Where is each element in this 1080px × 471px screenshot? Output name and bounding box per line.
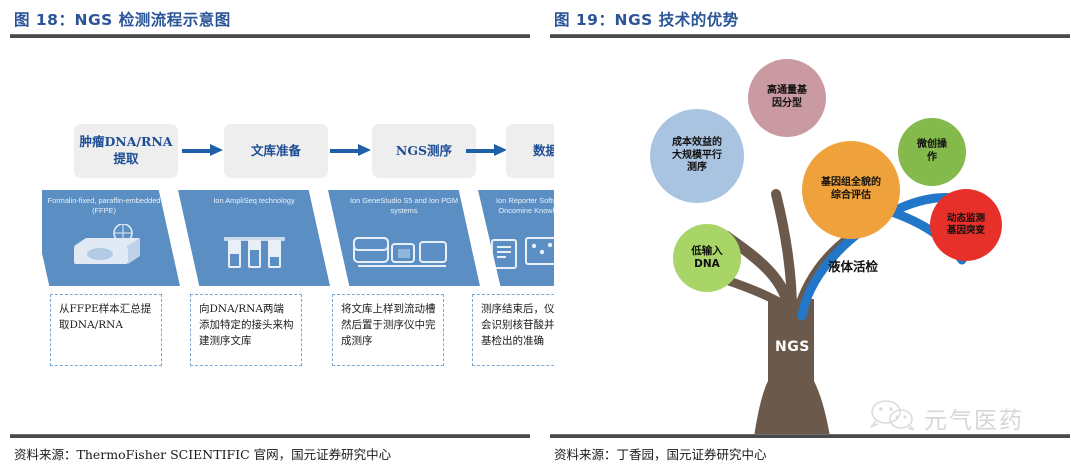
workflow-stage-box-1: 肿瘤DNA/RNA 提取: [74, 124, 178, 178]
workflow-stage-label-3: NGS测序: [396, 143, 452, 160]
tube-rack-icon: [178, 224, 330, 282]
workflow-note-1: 从FFPE样本汇总提取DNA/RNA: [50, 294, 162, 366]
bubble-mutation-monitoring: 动态监测 基因突变: [930, 189, 1002, 261]
bubble-genotyping: 高通量基 因分型: [748, 59, 826, 137]
figure-19-source: 资料来源：丁香园，国元证券研究中心: [554, 444, 767, 463]
workflow-chevron-3: Ion GeneStudio S5 and Ion PGM systems: [328, 190, 480, 286]
bubble-label-genotyping: 高通量基 因分型: [767, 85, 807, 111]
workflow-chevron-2: Ion AmpliSeq technology: [178, 190, 330, 286]
bubble-parallel-sequencing: 成本效益的 大规模平行 测序: [650, 109, 744, 203]
workflow-chevron-band: Formalin-fixed, paraffin-embedded (FFPE): [42, 190, 554, 286]
figure-18-panel: 图 18：NGS 检测流程示意图 肿瘤DNA/RNA 提取 文库准备 NGS测序…: [0, 0, 540, 471]
workflow-note-2: 向DNA/RNA两端添加特定的接头来构建测序文库: [190, 294, 302, 366]
figure-18-source: 资料来源：ThermoFisher SCIENTIFIC 官网，国元证券研究中心: [14, 444, 391, 463]
workflow-arrow-1-icon: [182, 146, 226, 156]
watermark: 元气医药: [866, 399, 1066, 435]
wechat-icon: [866, 399, 920, 433]
figure-18-top-rule: [10, 34, 530, 38]
ngs-advantage-tree: 成本效益的 大规模平行 测序 高通量基 因分型 基因组全貌的 综合评估 微创操 …: [540, 44, 1080, 434]
workflow-chevron-1: Formalin-fixed, paraffin-embedded (FFPE): [42, 190, 180, 286]
workflow-note-row: 从FFPE样本汇总提取DNA/RNA 向DNA/RNA两端添加特定的接头来构建测…: [42, 294, 554, 370]
bubble-genome-assessment: 基因组全貌的 综合评估: [802, 141, 900, 239]
workflow-note-3: 将文库上样到流动槽然后置于测序仪中完成测序: [332, 294, 444, 366]
workflow-arrow-2-icon: [330, 146, 374, 156]
figure-18-title: 图 18：NGS 检测流程示意图: [14, 8, 231, 30]
bubble-minimally-invasive: 微创操 作: [898, 118, 966, 186]
bubble-label-mutation-monitoring: 动态监测 基因突变: [947, 213, 985, 237]
workflow-stage-box-2: 文库准备: [224, 124, 328, 178]
bubble-label-low-input-dna: 低输入 DNA: [691, 245, 723, 272]
bubble-label-parallel-sequencing: 成本效益的 大规模平行 测序: [672, 137, 722, 175]
workflow-stage-label-2: 文库准备: [251, 143, 301, 160]
workflow-arrow-3-icon: [466, 146, 510, 156]
figure-18-bottom-rule: [10, 434, 530, 438]
ngs-workflow-diagram: 肿瘤DNA/RNA 提取 文库准备 NGS测序 数据分析 Formalin-fi…: [42, 122, 554, 372]
tissue-block-icon: [42, 224, 180, 282]
workflow-stage-row: 肿瘤DNA/RNA 提取 文库准备 NGS测序 数据分析: [42, 122, 554, 180]
bubble-low-input-dna: 低输入 DNA: [673, 224, 741, 292]
figure-19-top-rule: [550, 34, 1070, 38]
figure-19-title: 图 19：NGS 技术的优势: [554, 8, 739, 30]
workflow-caption-2: Ion AmpliSeq technology: [190, 196, 318, 206]
tree-trunk-base: [754, 381, 830, 434]
trunk-label-ngs: NGS: [775, 339, 810, 355]
liquid-biopsy-label: 液体活检: [828, 256, 878, 275]
sequencer-icon: [328, 224, 480, 282]
bubble-label-minimally-invasive: 微创操 作: [917, 139, 947, 165]
watermark-text: 元气医药: [924, 401, 1024, 435]
workflow-stage-box-3: NGS测序: [372, 124, 476, 178]
workflow-caption-1: Formalin-fixed, paraffin-embedded (FFPE): [42, 196, 168, 216]
workflow-stage-label-1: 肿瘤DNA/RNA 提取: [79, 134, 172, 168]
workflow-caption-3: Ion GeneStudio S5 and Ion PGM systems: [340, 196, 468, 216]
bubble-label-genome-assessment: 基因组全貌的 综合评估: [821, 177, 881, 203]
